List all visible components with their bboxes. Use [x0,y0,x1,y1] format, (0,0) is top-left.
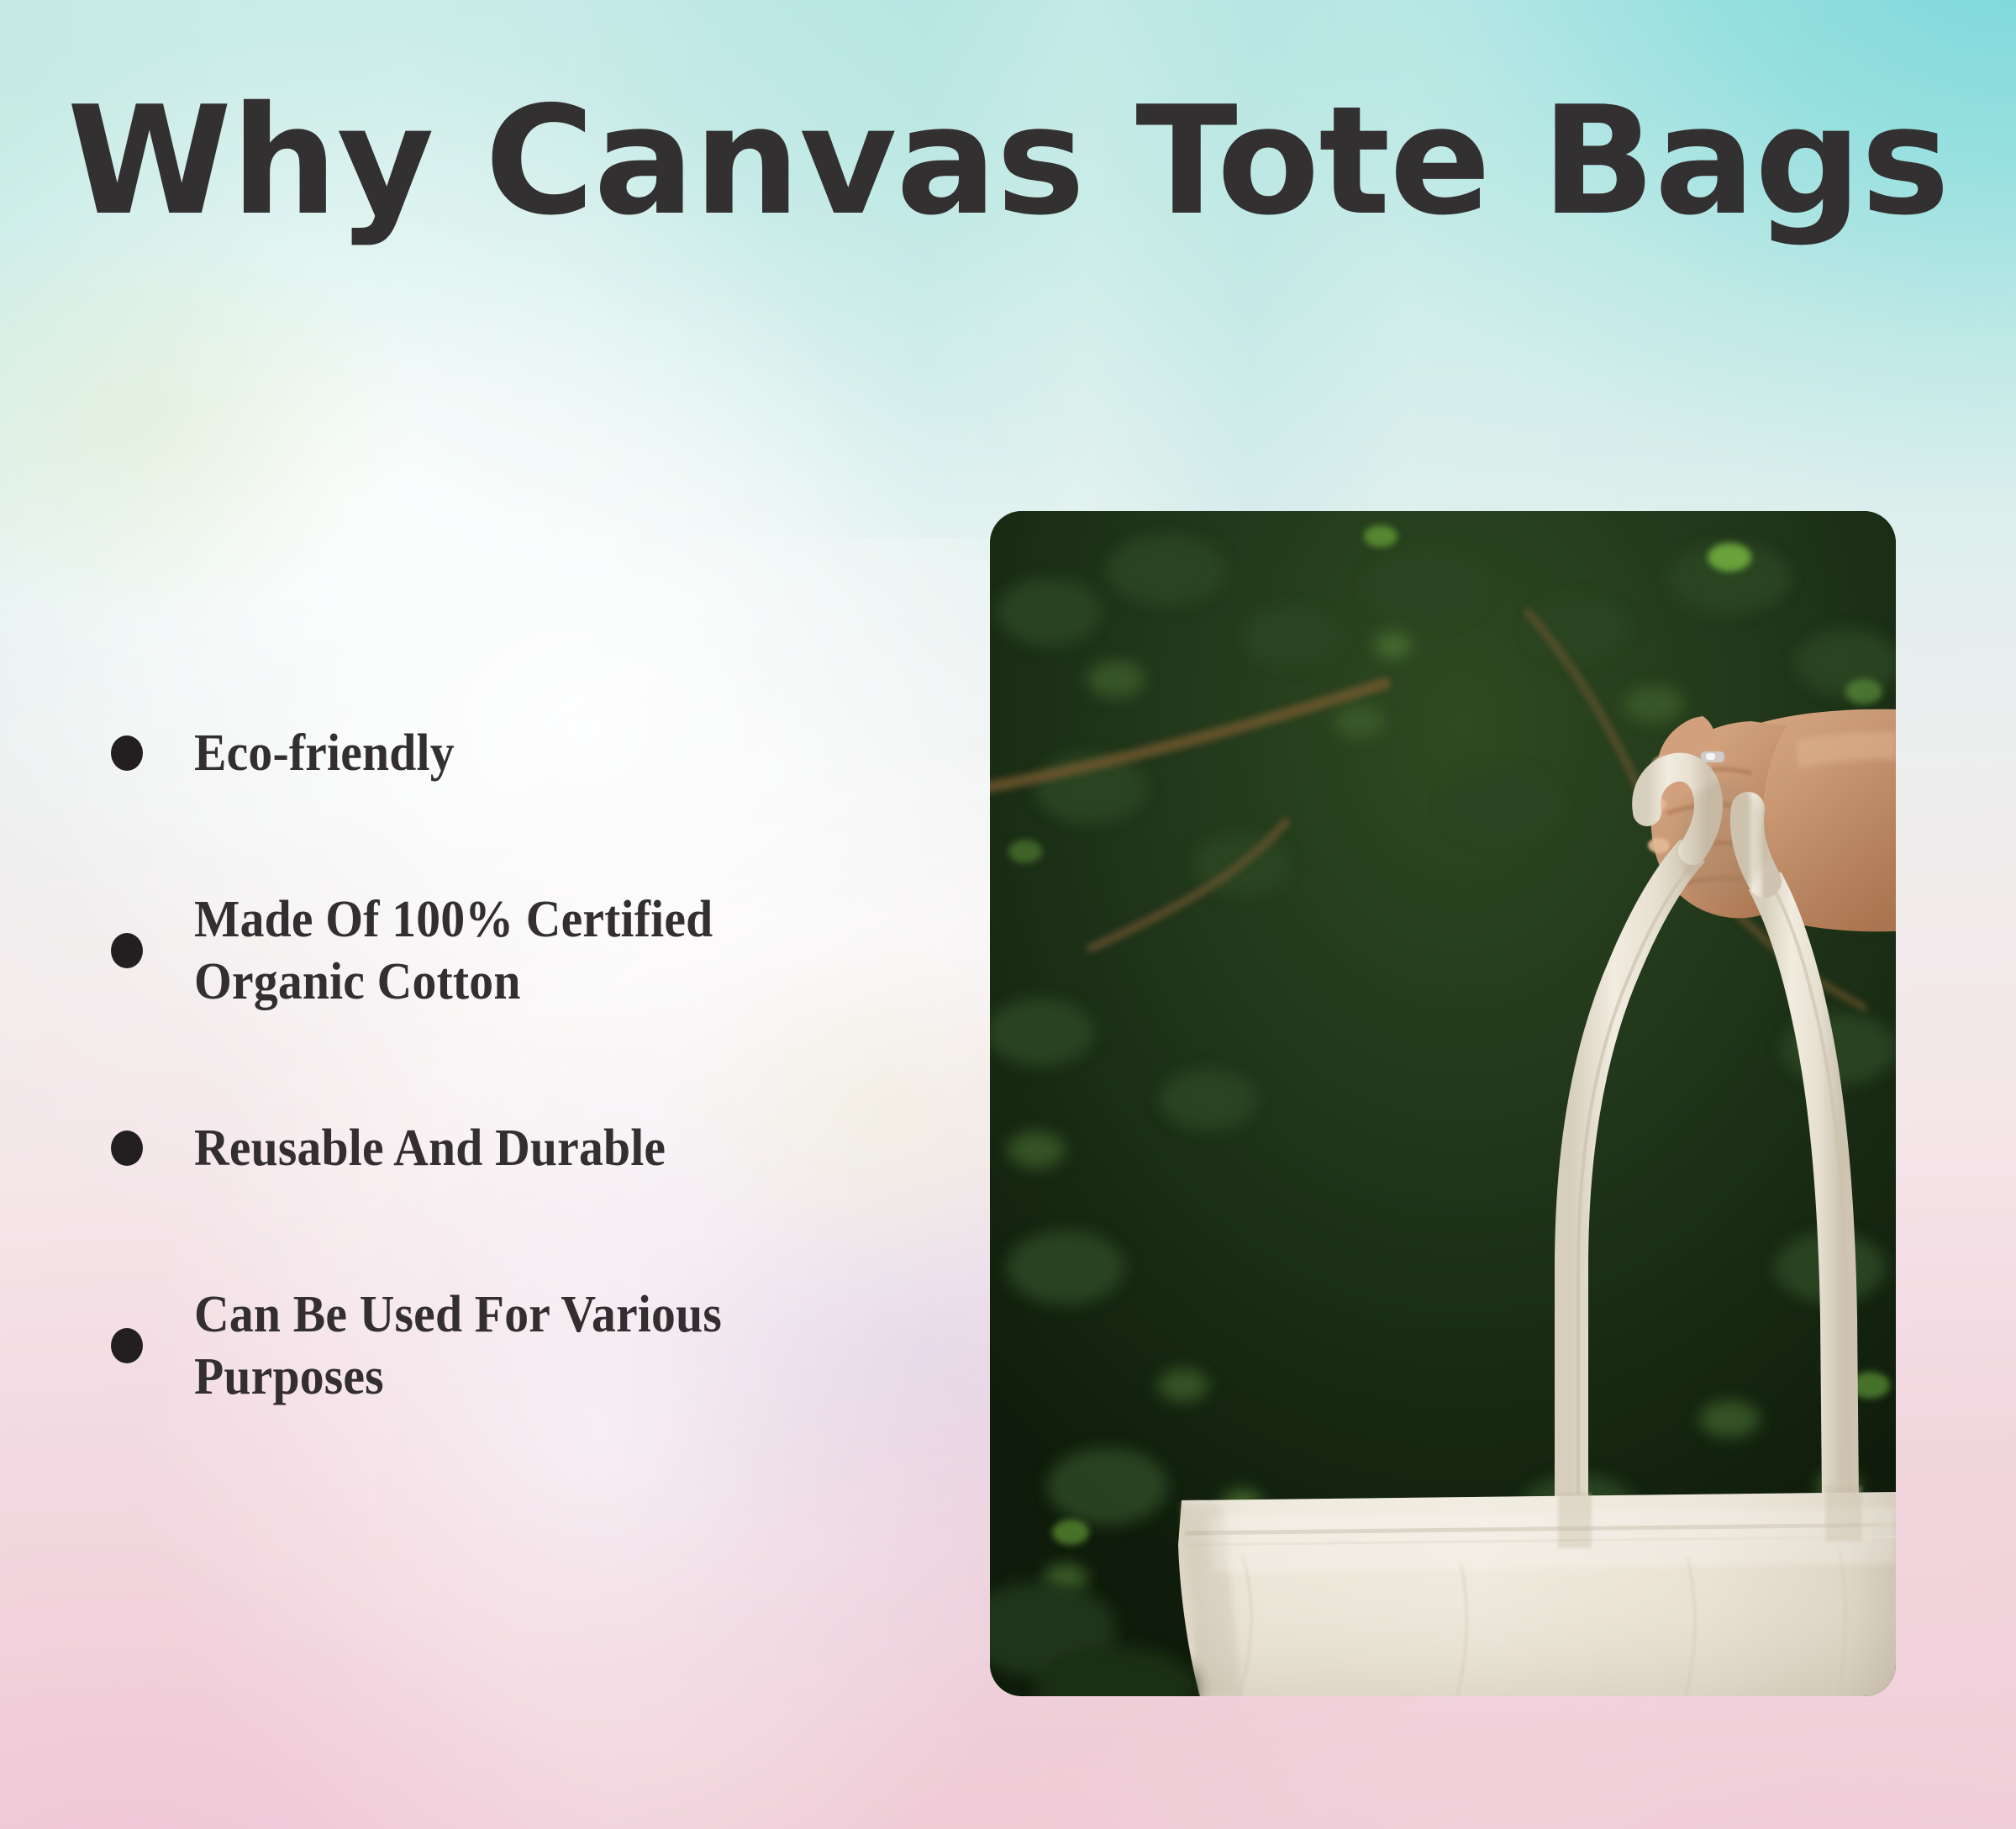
benefit-label-eco-friendly: Eco-friendly [194,722,455,784]
tote-bag-body [1178,1486,1896,1696]
tote-bag-photo-illustration [990,511,1896,1696]
list-item: Can Be Used For Various Purposes [111,1266,960,1426]
bullet-dot-icon [111,1328,143,1363]
poster-canvas: Why Canvas Tote Bags Eco-friendly Made O… [0,0,2016,1829]
benefit-label-various-purposes: Can Be Used For Various Purposes [194,1283,850,1409]
product-photo [990,511,1896,1696]
list-item: Eco-friendly [111,706,960,800]
bullet-dot-icon [111,933,143,968]
list-item: Made Of 100% Certified Organic Cotton [111,871,960,1030]
page-title: Why Canvas Tote Bags [0,81,2016,242]
bullet-dot-icon [111,735,143,771]
benefit-label-reusable-durable: Reusable And Durable [194,1117,666,1179]
list-item: Reusable And Durable [111,1101,960,1195]
benefits-list: Eco-friendly Made Of 100% Certified Orga… [111,706,960,1426]
bullet-dot-icon [111,1131,143,1166]
benefit-label-organic-cotton: Made Of 100% Certified Organic Cotton [194,888,819,1014]
